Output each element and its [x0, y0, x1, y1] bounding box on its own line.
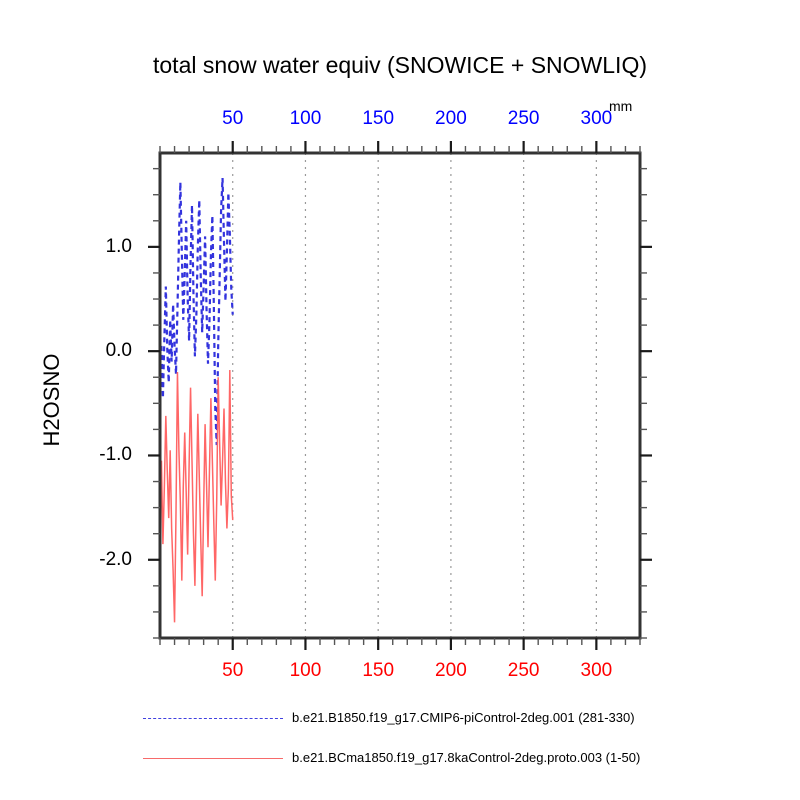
data-series-line: [161, 370, 232, 622]
bottom-axis-tick-label: 50: [222, 660, 243, 682]
y-axis-tick-label: -1.0: [99, 444, 132, 466]
legend: b.e21.B1850.f19_g17.CMIP6-piControl-2deg…: [0, 700, 800, 780]
legend-label: b.e21.B1850.f19_g17.CMIP6-piControl-2deg…: [292, 710, 635, 725]
bottom-axis-tick-label: 250: [508, 660, 540, 682]
legend-item[interactable]: b.e21.BCma1850.f19_g17.8kaControl-2deg.p…: [0, 740, 800, 780]
legend-line-sample-dashed: [143, 718, 283, 719]
legend-label: b.e21.BCma1850.f19_g17.8kaControl-2deg.p…: [292, 750, 640, 765]
top-axis-tick-label: 50: [222, 108, 243, 130]
bottom-axis-tick-label: 150: [362, 660, 394, 682]
plot-figure: total snow water equiv (SNOWICE + SNOWLI…: [0, 0, 800, 800]
legend-item[interactable]: b.e21.B1850.f19_g17.CMIP6-piControl-2deg…: [0, 700, 800, 740]
bottom-axis-tick-label: 100: [290, 660, 322, 682]
legend-line-sample-solid: [143, 758, 283, 759]
plot-frame: [160, 153, 640, 638]
y-axis-tick-label: 1.0: [106, 236, 132, 258]
top-axis-tick-label: 250: [508, 108, 540, 130]
y-axis-tick-label: 0.0: [106, 340, 132, 362]
top-axis-tick-label: 150: [362, 108, 394, 130]
top-axis-tick-label: 300: [581, 108, 613, 130]
plot-canvas: [0, 0, 800, 800]
bottom-axis-tick-label: 300: [581, 660, 613, 682]
y-axis-tick-label: -2.0: [99, 549, 132, 571]
bottom-axis-tick-label: 200: [435, 660, 467, 682]
data-series-line: [161, 178, 232, 445]
top-axis-tick-label: 100: [290, 108, 322, 130]
top-axis-tick-label: 200: [435, 108, 467, 130]
series-group: [161, 178, 232, 622]
